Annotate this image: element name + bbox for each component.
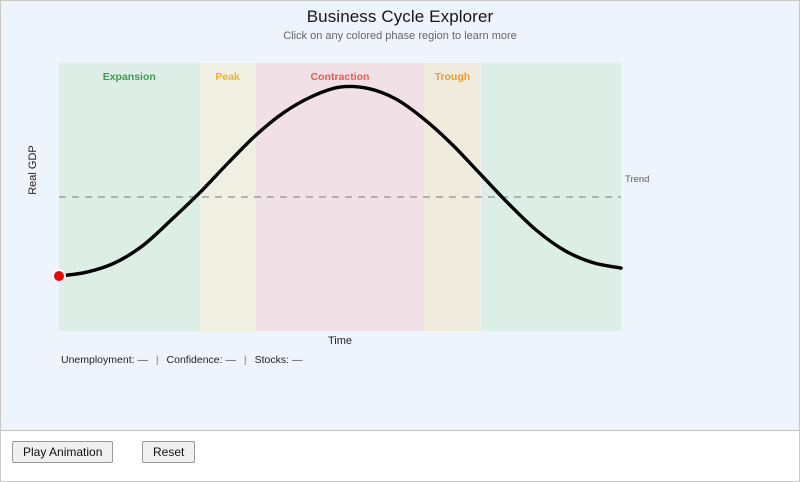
- plot-area: ExpansionPeakContractionTrough: [59, 63, 621, 331]
- reset-button[interactable]: Reset: [142, 441, 195, 463]
- current-position-marker[interactable]: [53, 270, 65, 282]
- trend-line-label: Trend: [625, 174, 649, 185]
- confidence-value: —: [226, 354, 237, 366]
- page-title: Business Cycle Explorer: [1, 7, 799, 27]
- y-axis-label: Real GDP: [27, 130, 39, 210]
- confidence-label: Confidence:: [167, 354, 223, 366]
- indicator-status-bar: Unemployment: — | Confidence: — | Stocks…: [61, 354, 302, 366]
- x-axis-label: Time: [59, 335, 621, 347]
- unemployment-label: Unemployment:: [61, 354, 135, 366]
- gdp-curve-svg: [59, 63, 621, 331]
- stocks-label: Stocks:: [255, 354, 289, 366]
- indicator-separator-2: |: [239, 354, 252, 366]
- indicator-separator-1: |: [151, 354, 164, 366]
- stocks-value: —: [292, 354, 303, 366]
- gdp-curve: [59, 86, 621, 276]
- play-animation-button[interactable]: Play Animation: [12, 441, 113, 463]
- unemployment-value: —: [137, 354, 148, 366]
- chart-panel: Business Cycle Explorer Click on any col…: [1, 1, 799, 430]
- page-subtitle: Click on any colored phase region to lea…: [1, 30, 799, 42]
- app-window: Business Cycle Explorer Click on any col…: [0, 0, 800, 482]
- control-bar: Play Animation Reset: [1, 431, 799, 481]
